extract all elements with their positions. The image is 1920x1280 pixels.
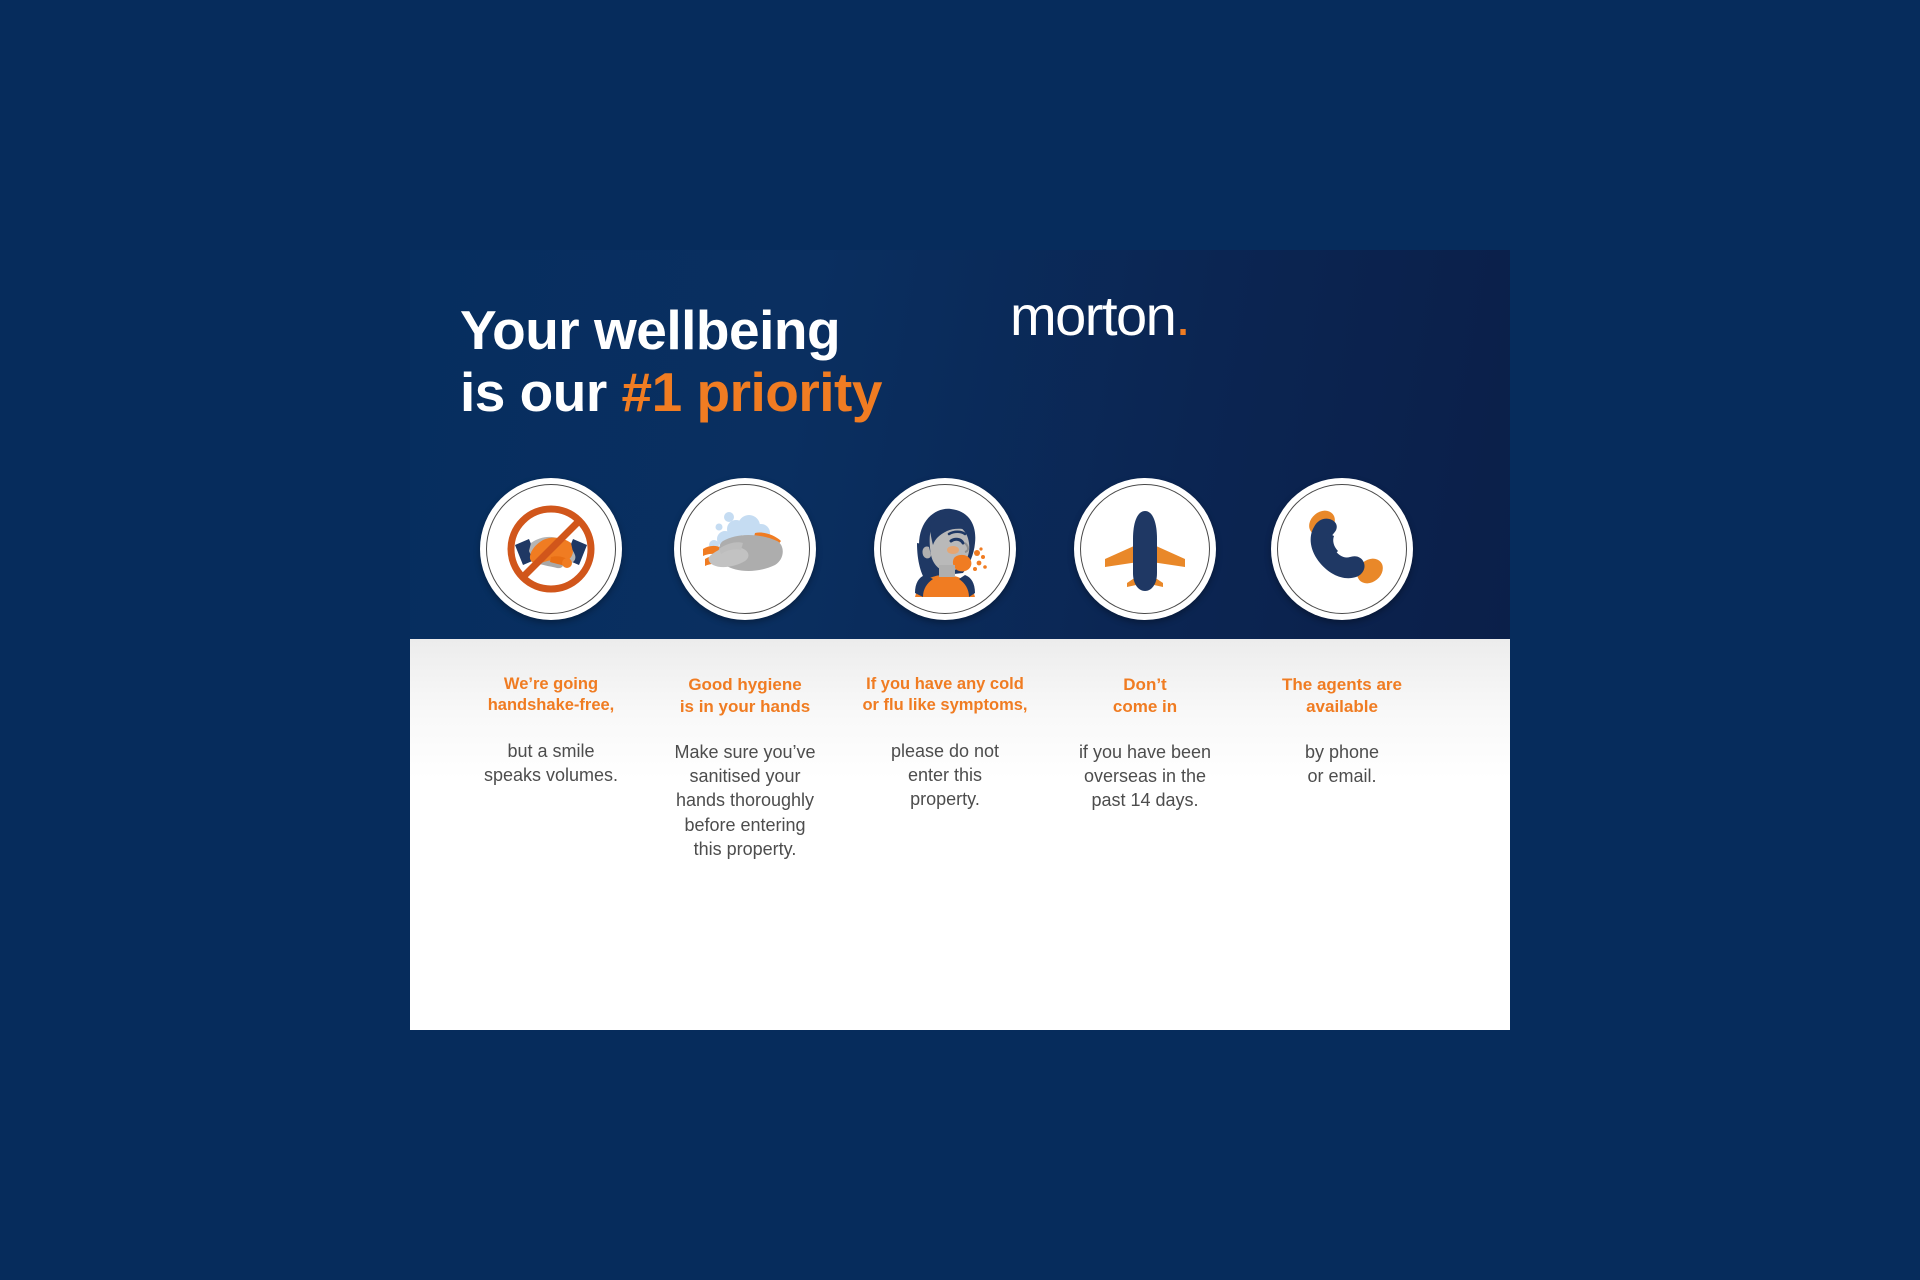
advice-column: We’re going handshake-free, but a smile … [454, 478, 648, 861]
advice-column: If you have any cold or flu like symptom… [842, 478, 1048, 861]
logo-wordmark: morton [1010, 284, 1175, 347]
advice-title: We’re going handshake-free, [488, 674, 615, 717]
badge-airplane [1074, 478, 1216, 620]
advice-title: Good hygiene is in your hands [680, 674, 810, 718]
advice-body: please do not enter this property. [891, 739, 999, 811]
advice-body: by phone or email. [1305, 740, 1379, 788]
advice-column: The agents are available by phone or ema… [1242, 478, 1442, 861]
advice-column: Don’t come in if you have been overseas … [1048, 478, 1242, 861]
telephone-icon [1286, 493, 1398, 605]
advice-body: but a smile speaks volumes. [484, 739, 618, 787]
no-handshake-icon [495, 493, 607, 605]
poster-canvas: Your wellbeing is our #1 priority morton… [0, 0, 1920, 1280]
morton-logo: morton. [1010, 288, 1189, 344]
badge-sneezing-person [874, 478, 1016, 620]
logo-dot: . [1175, 284, 1189, 347]
sneezing-person-icon [889, 493, 1001, 605]
flyer-card: Your wellbeing is our #1 priority morton… [410, 250, 1510, 1030]
headline-line-2-plain: is our [460, 361, 622, 423]
advice-body: Make sure you’ve sanitised your hands th… [674, 740, 815, 861]
headline: Your wellbeing is our #1 priority [460, 300, 882, 423]
advice-title: If you have any cold or flu like symptom… [862, 674, 1027, 717]
hand-washing-icon [689, 493, 801, 605]
advice-title: Don’t come in [1113, 674, 1177, 718]
headline-line-1: Your wellbeing [460, 300, 882, 362]
headline-line-2-accent: #1 priority [622, 361, 882, 423]
headline-line-2: is our #1 priority [460, 362, 882, 424]
advice-title: The agents are available [1282, 674, 1402, 718]
advice-columns: We’re going handshake-free, but a smile … [410, 478, 1510, 861]
badge-no-handshake [480, 478, 622, 620]
badge-telephone [1271, 478, 1413, 620]
airplane-icon [1089, 493, 1201, 605]
advice-column: Good hygiene is in your hands Make sure … [648, 478, 842, 861]
advice-body: if you have been overseas in the past 14… [1079, 740, 1211, 812]
badge-hand-washing [674, 478, 816, 620]
